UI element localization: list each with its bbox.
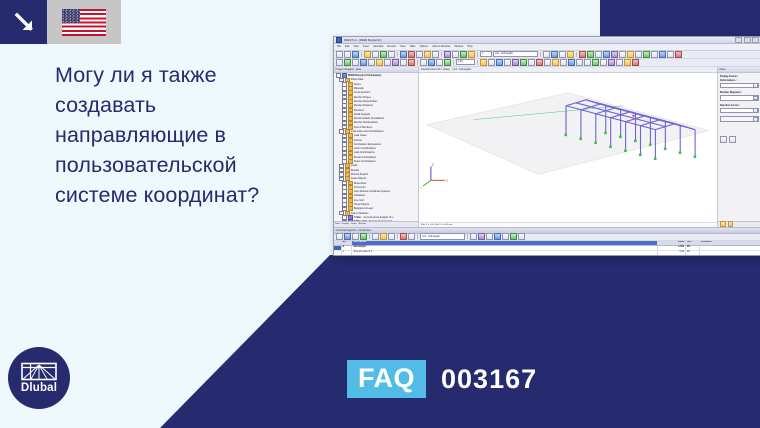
tree-item-label: Action Combinations — [354, 147, 376, 150]
panel-group: Deformations : — [720, 79, 759, 89]
dlubal-logo: Dlubal — [8, 347, 70, 409]
table-load-case-field[interactable]: LC1 - Self-weight — [420, 233, 465, 240]
row-value[interactable]: 1.000 — [658, 246, 686, 250]
structure-3d-drawing: Z X Y — [419, 73, 717, 192]
workspace-tab-label[interactable]: Internal Forces W-Y (Alias) — [421, 68, 450, 71]
tree-item-label: Background Layer — [354, 207, 373, 210]
navigator-tab-display[interactable]: Display — [342, 223, 349, 225]
row-comment[interactable] — [700, 251, 760, 255]
table-column-header[interactable]: Unit — [686, 241, 700, 245]
us-flag-icon — [62, 9, 106, 36]
tree-item-label: Combination Expressions — [354, 143, 381, 146]
tree-item-label: Dimensions — [354, 182, 367, 185]
navigator-tab-data[interactable]: Data — [335, 223, 340, 225]
tree-item-label: Nodal Supports — [354, 113, 370, 116]
menu-item-help[interactable]: Help — [467, 45, 472, 48]
menu-item-view[interactable]: View — [353, 45, 358, 48]
arrow-down-right-icon — [0, 0, 47, 44]
app-title: RFEM 5.xx - [RFEM Beispiel 01] — [344, 39, 381, 42]
tree-item-label: Guide Objects — [351, 177, 366, 180]
tree-item-label: Visual Objects — [354, 203, 369, 206]
svg-text:Y: Y — [420, 186, 422, 190]
menu-item-options[interactable]: Options — [420, 45, 429, 48]
table-column-header[interactable]: Value — [658, 241, 686, 245]
row-value[interactable]: 0.00 — [658, 251, 686, 255]
menu-item-add-on-modules[interactable]: Add-on Modules — [432, 45, 450, 48]
svg-text:X: X — [446, 178, 448, 182]
tree-item-label: Load Cases — [354, 134, 367, 137]
display-panel[interactable]: Panel Display Factors Deformations :Memb… — [717, 67, 760, 227]
tree-item-label: Results — [351, 169, 359, 172]
faq-badge: FAQ — [347, 360, 426, 398]
panel-reset-icon[interactable] — [729, 136, 736, 143]
navigator-tab-results[interactable]: Results — [359, 223, 366, 225]
slider-knob-icon[interactable] — [753, 96, 757, 101]
question-text: Могу ли я также создавать направляющие в… — [55, 60, 310, 210]
faq-number: 003167 — [441, 364, 537, 395]
row-unit[interactable]: kN — [686, 251, 700, 255]
window-buttons[interactable] — [735, 37, 759, 43]
navigator-tab-views[interactable]: Views — [351, 223, 357, 225]
navigator-tree[interactable]: -RFEM Beispiel 01 (Examples)-Model Data-… — [334, 73, 418, 221]
tree-item-label: Result Combinations — [354, 156, 376, 159]
panel-groups[interactable]: Deformations :Member Diagrams :Reaction … — [720, 79, 759, 114]
tree-item-label: Comments — [354, 186, 366, 189]
workspace-subtitle: LC1 - Self-weight — [453, 68, 471, 71]
table-toolbar[interactable]: LC1 - Self-weight — [334, 234, 760, 241]
menu-item-window[interactable]: Window — [454, 45, 463, 48]
tree-item-label: Member Elastic Foundations — [354, 117, 384, 120]
row-selector[interactable] — [334, 251, 342, 255]
tree-item-label: Super Combinations — [354, 160, 376, 163]
dlubal-frame-icon — [21, 362, 57, 381]
table-column-header[interactable]: Description — [352, 241, 659, 245]
row-number[interactable]: 1 — [342, 251, 352, 255]
panel-group-slider[interactable] — [720, 83, 759, 89]
table-column-header[interactable]: No. — [342, 241, 352, 245]
panel-buttons[interactable] — [720, 136, 759, 143]
slider-knob-icon[interactable] — [753, 83, 757, 88]
tree-item-label: Materials — [354, 87, 364, 90]
menu-item-file[interactable]: File — [337, 45, 341, 48]
panel-group-label: Member Diagrams : — [720, 91, 759, 94]
table-grid[interactable]: No.DescriptionValueUnitCommentASelf-weig… — [334, 241, 760, 257]
tree-item-label: Line Grid — [354, 199, 364, 202]
app-title-bar: RFEM 5.xx - [RFEM Beispiel 01] — [334, 37, 760, 44]
close-icon[interactable] — [752, 37, 759, 43]
slider-knob-icon[interactable] — [753, 108, 757, 113]
panel-combo[interactable] — [720, 116, 759, 122]
tree-item-label: Printout Reports — [351, 173, 368, 176]
row-comment[interactable] — [700, 246, 760, 250]
panel-body: Display Factors Deformations :Member Dia… — [718, 73, 760, 221]
tree-item-label: Actions — [354, 139, 362, 142]
model-workspace: Internal Forces W-Y (Alias) LC1 - Self-w… — [419, 67, 717, 227]
tree-item-label: Sets of Members — [354, 126, 372, 129]
menu-item-edit[interactable]: Edit — [345, 45, 349, 48]
navigator-tabs[interactable]: DataDisplayViewsResults — [334, 221, 418, 227]
row-selector[interactable] — [334, 246, 342, 250]
row-description[interactable]: Sum of Loads in X — [352, 251, 659, 255]
panel-group: Reaction Forces : — [720, 104, 759, 114]
menu-item-table[interactable]: Table — [410, 45, 416, 48]
table-column-header[interactable]: Comment — [700, 241, 760, 245]
tree-item-label: Member Hinges — [354, 96, 371, 99]
tree-item-label: User-Defined Coordinate Systems — [354, 190, 390, 193]
load-case-field[interactable]: LC1 - Self-weight — [493, 51, 538, 58]
tree-item-label: Model Data — [351, 78, 363, 81]
panel-group-slider[interactable] — [720, 95, 759, 101]
slide-canvas: Могу ли я также создавать направляющие в… — [0, 0, 760, 428]
viewport-status: Max X = 1.00, Min X = -0.00 mm — [419, 222, 717, 227]
menu-item-tools[interactable]: Tools — [400, 45, 406, 48]
panel-footer-icon-1[interactable] — [720, 221, 726, 227]
panel-group: Member Diagrams : — [720, 91, 759, 101]
tree-item-label: Cross-Sections — [354, 91, 370, 94]
panel-footer[interactable] — [718, 221, 760, 227]
menu-item-results[interactable]: Results — [387, 45, 395, 48]
menu-item-insert[interactable]: Insert — [363, 45, 369, 48]
faq-block: FAQ 003167 — [347, 360, 537, 398]
model-3d-viewport[interactable]: Z X Y — [419, 73, 717, 222]
maximize-icon[interactable] — [744, 37, 751, 43]
panel-group-label: Reaction Forces : — [720, 104, 759, 107]
toolbar-row-2[interactable]: 1.00 — [334, 59, 760, 67]
app-body: Project Navigator - Data -RFEM Beispiel … — [334, 67, 760, 227]
table-row[interactable]: 1Sum of Loads in X0.00kN — [334, 251, 760, 256]
table-column-header[interactable] — [334, 241, 342, 245]
slide-header — [0, 0, 121, 44]
menu-item-calculate[interactable]: Calculate — [373, 45, 383, 48]
row-number[interactable]: A — [342, 246, 352, 250]
tree-item-label: Member Divisions — [354, 104, 373, 107]
row-description[interactable]: Self-weight — [352, 246, 659, 250]
project-navigator[interactable]: Project Navigator - Data -RFEM Beispiel … — [334, 67, 419, 227]
tree-item-label: Add-on Modules — [351, 212, 368, 215]
dlubal-logo-text: Dlubal — [21, 382, 57, 394]
toolbar-row-1[interactable]: 1 LC1 - Self-weight — [334, 51, 760, 59]
svg-text:Z: Z — [432, 162, 434, 166]
chevron-down-icon[interactable] — [753, 117, 758, 122]
toolbar-small-field[interactable]: 1 — [480, 51, 492, 58]
tree-item-label: Nodes — [354, 83, 361, 86]
results-table-panel[interactable]: 1.8 Nodal Supports - Coordinates LC1 - S… — [334, 227, 760, 257]
panel-apply-icon[interactable] — [720, 136, 727, 143]
tree-item-label: Guidelines — [354, 194, 365, 197]
tree-item-label: Member Nonlinearities — [354, 121, 378, 124]
panel-group-label: Deformations : — [720, 79, 759, 82]
tree-item-label: Load Cases and Combinations — [351, 130, 384, 133]
panel-section-title: Display Factors — [720, 75, 759, 78]
panel-group-slider[interactable] — [720, 108, 759, 114]
toolbar-value-field[interactable]: 1.00 — [456, 59, 475, 66]
tree-item-label: Members — [354, 109, 364, 112]
rfem-application-screenshot: RFEM 5.xx - [RFEM Beispiel 01] FileEditV… — [333, 36, 760, 256]
tree-item-label: STEEL - General stress analysis of s... — [354, 216, 395, 219]
tree-item-label: RFEM Beispiel 01 (Examples) — [348, 74, 381, 77]
tree-item-label: Load Combinations — [354, 151, 375, 154]
tree-item-label: Loads — [351, 164, 358, 167]
app-icon — [336, 37, 342, 43]
minimize-icon[interactable] — [735, 37, 742, 43]
row-unit[interactable]: kN — [686, 246, 700, 250]
flag-container — [47, 0, 121, 44]
tree-item-label: Member Eccentricities — [354, 100, 378, 103]
panel-footer-icon-2[interactable] — [728, 221, 734, 227]
